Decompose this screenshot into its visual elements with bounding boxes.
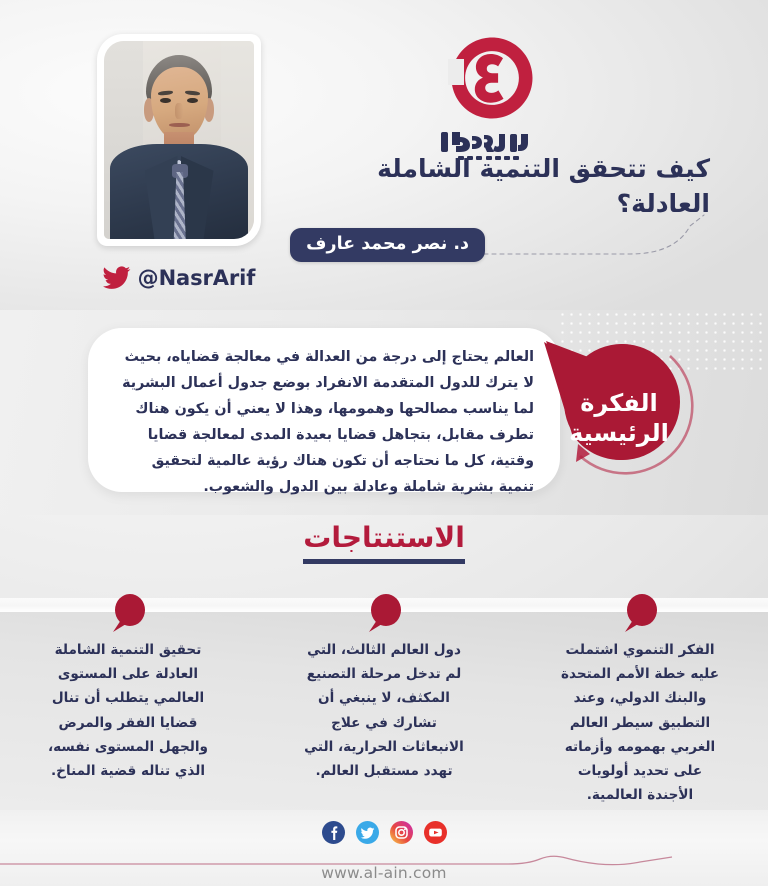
youtube-link[interactable] — [424, 821, 447, 844]
dashed-connector-line — [480, 212, 710, 258]
conclusion-text-2: دول العالم الثالث، التي لم تدخل مرحلة ال… — [301, 638, 467, 783]
instagram-icon — [390, 821, 413, 844]
social-links — [0, 821, 768, 844]
website-url: www.al-ain.com — [0, 864, 768, 882]
infographic-page: @NasrArif — [0, 0, 768, 886]
instagram-link[interactable] — [390, 821, 413, 844]
conclusions-heading-wrap: الاستنتاجات — [0, 522, 768, 564]
main-idea-badge: الفكرة الرئيسية — [538, 338, 706, 490]
conclusion-text-3: الفكر التنموي اشتملت عليه خطة الأمم المت… — [557, 638, 723, 807]
page-title: كيف تتحقق التنمية الشاملة العادلة؟ — [320, 152, 710, 221]
conclusion-marker-slot-2 — [256, 590, 512, 638]
facebook-icon — [322, 821, 345, 844]
main-idea-badge-shape — [538, 338, 706, 490]
twitter-handle-row[interactable]: @NasrArif — [0, 266, 358, 290]
conclusion-item-1: تحقيق التنمية الشاملة العادلة على المستو… — [0, 590, 256, 807]
header-section: @NasrArif — [0, 0, 768, 310]
twitter-handle-text: @NasrArif — [138, 266, 256, 290]
portrait-eye-right — [187, 98, 198, 103]
conclusion-text-1: تحقيق التنمية الشاملة العادلة على المستو… — [45, 638, 211, 783]
author-portrait — [104, 41, 254, 239]
speech-bubble-icon — [621, 592, 659, 634]
portrait-nose — [175, 103, 183, 119]
speech-bubble-icon — [109, 592, 147, 634]
footer-section: www.al-ain.com — [0, 810, 768, 886]
portrait-eye-left — [160, 98, 171, 103]
conclusion-item-3: الفكر التنموي اشتملت عليه خطة الأمم المت… — [512, 590, 768, 807]
conclusion-item-2: دول العالم الثالث، التي لم تدخل مرحلة ال… — [256, 590, 512, 807]
al-ain-ayn-logo-icon — [436, 32, 548, 124]
author-photo-frame — [97, 34, 261, 246]
conclusion-marker-slot-3 — [512, 590, 768, 638]
conclusions-heading: الاستنتاجات — [303, 522, 465, 564]
youtube-icon — [424, 821, 447, 844]
facebook-link[interactable] — [322, 821, 345, 844]
quote-card: العالم يحتاج إلى درجة من العدالة في معال… — [88, 328, 560, 492]
quote-text: العالم يحتاج إلى درجة من العدالة في معال… — [114, 344, 534, 500]
author-name-badge: د. نصر محمد عارف — [290, 228, 485, 262]
al-ain-logo — [436, 32, 548, 164]
main-idea-section: العالم يحتاج إلى درجة من العدالة في معال… — [0, 310, 768, 515]
conclusions-columns: تحقيق التنمية الشاملة العادلة على المستو… — [0, 590, 768, 807]
twitter-icon — [356, 821, 379, 844]
twitter-bird-icon — [103, 266, 131, 290]
conclusion-marker-slot-1 — [0, 590, 256, 638]
speech-bubble-icon — [365, 592, 403, 634]
twitter-link[interactable] — [356, 821, 379, 844]
